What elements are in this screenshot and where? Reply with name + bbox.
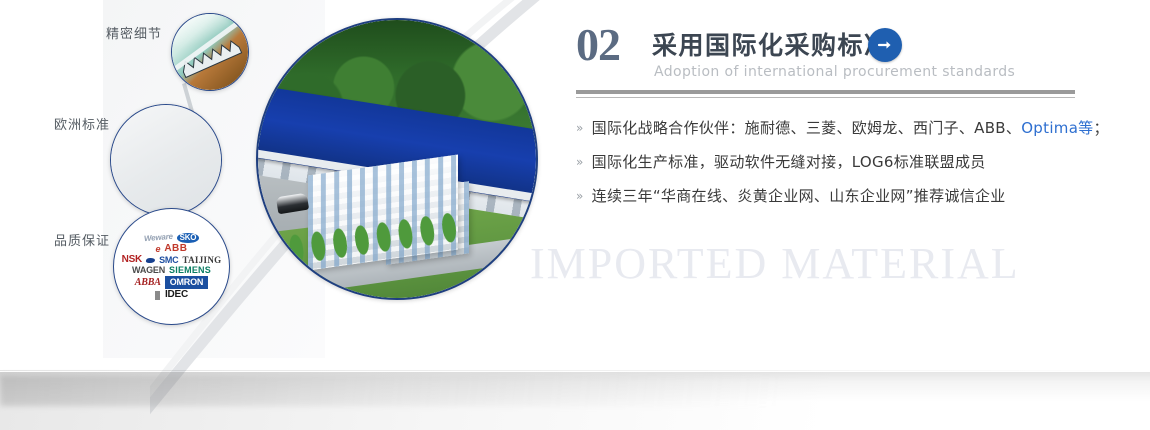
bullet-list: » 国际化战略合作伙伴：施耐德、三菱、欧姆龙、西门子、ABB、Optima等； … xyxy=(576,118,1096,220)
brand-logo-e: e xyxy=(156,245,161,254)
section-number: 02 xyxy=(576,22,620,68)
label-quality-assurance: 品质保证 xyxy=(54,230,110,249)
arrow-right-icon[interactable] xyxy=(868,28,902,62)
ball-screw-photo[interactable] xyxy=(110,104,222,216)
brand-logo-idec: IDEC xyxy=(165,290,188,300)
smc-mark-icon xyxy=(145,258,156,263)
brand-logo-nsk: NSK xyxy=(122,255,143,265)
logo-row: Weware SKO xyxy=(118,233,225,243)
factory-building-photo[interactable] xyxy=(256,18,538,300)
factory-building-image xyxy=(258,20,536,298)
list-item-text: 连续三年“华商在线、炎黄企业网、山东企业网”推荐诚信企业 xyxy=(592,186,1006,206)
brand-logo-weware: Weware xyxy=(143,233,172,243)
page-title: 采用国际化采购标准 xyxy=(652,26,891,62)
idec-bar-icon xyxy=(155,291,160,300)
label-european-standard: 欧洲标准 xyxy=(54,114,110,133)
list-item: » 国际化战略合作伙伴：施耐德、三菱、欧姆龙、西门子、ABB、Optima等； xyxy=(576,118,1096,138)
logo-row: ABBA OMRON xyxy=(118,276,225,289)
bottom-divider xyxy=(0,370,1150,371)
chevron-double-right-icon: » xyxy=(576,186,584,206)
list-item-text: 国际化战略合作伙伴：施耐德、三菱、欧姆龙、西门子、ABB、Optima等； xyxy=(592,118,1109,138)
brand-logo-sko: SKO xyxy=(177,233,200,243)
brand-logo-siemens: SIEMENS xyxy=(169,266,211,275)
page-subtitle: Adoption of international procurement st… xyxy=(654,64,1015,80)
brand-logo-smc: SMC xyxy=(159,256,178,265)
label-precision-details: 精密细节 xyxy=(106,23,162,42)
title-divider xyxy=(576,90,1075,98)
list-item-text-before: 国际化战略合作伙伴：施耐德、三菱、欧姆龙、西门子、ABB、 xyxy=(592,119,1022,137)
watermark-text: IMPORTED MATERIAL xyxy=(530,238,1020,289)
brand-logo-wagen: WAGEN xyxy=(132,266,165,275)
list-item-text-after: ； xyxy=(1093,119,1108,137)
page-root: 精密细节 欧洲标准 品质保证 xyxy=(0,0,1150,430)
ball-screw-image xyxy=(111,105,221,215)
gear-detail-image xyxy=(172,14,248,90)
brand-logos-list: Weware SKO e ABB NSK SMC TAIJING WAGEN S… xyxy=(114,209,229,324)
brand-logo-abb: ABB xyxy=(164,244,187,254)
logo-row: IDEC xyxy=(118,290,225,300)
list-item-text: 国际化生产标准，驱动软件无缝对接，LOG6标准联盟成员 xyxy=(592,152,986,172)
chevron-double-right-icon: » xyxy=(576,118,584,138)
brand-logo-omron: OMRON xyxy=(165,276,209,289)
gear-detail-photo[interactable] xyxy=(171,13,249,91)
chevron-double-right-icon: » xyxy=(576,152,584,172)
logo-row: e ABB xyxy=(118,244,225,254)
brand-logo-abba: ABBA xyxy=(135,278,161,288)
content-column: 02 采用国际化采购标准 Adoption of international p… xyxy=(576,0,1136,430)
list-item-highlight: Optima等 xyxy=(1021,119,1093,137)
list-item: » 国际化生产标准，驱动软件无缝对接，LOG6标准联盟成员 xyxy=(576,152,1096,172)
list-item: » 连续三年“华商在线、炎黄企业网、山东企业网”推荐诚信企业 xyxy=(576,186,1096,206)
brand-logos-photo[interactable]: Weware SKO e ABB NSK SMC TAIJING WAGEN S… xyxy=(113,208,230,325)
logo-row: NSK SMC TAIJING xyxy=(118,255,225,265)
logo-row: WAGEN SIEMENS xyxy=(118,266,225,275)
brand-logo-taijing: TAIJING xyxy=(182,256,221,265)
